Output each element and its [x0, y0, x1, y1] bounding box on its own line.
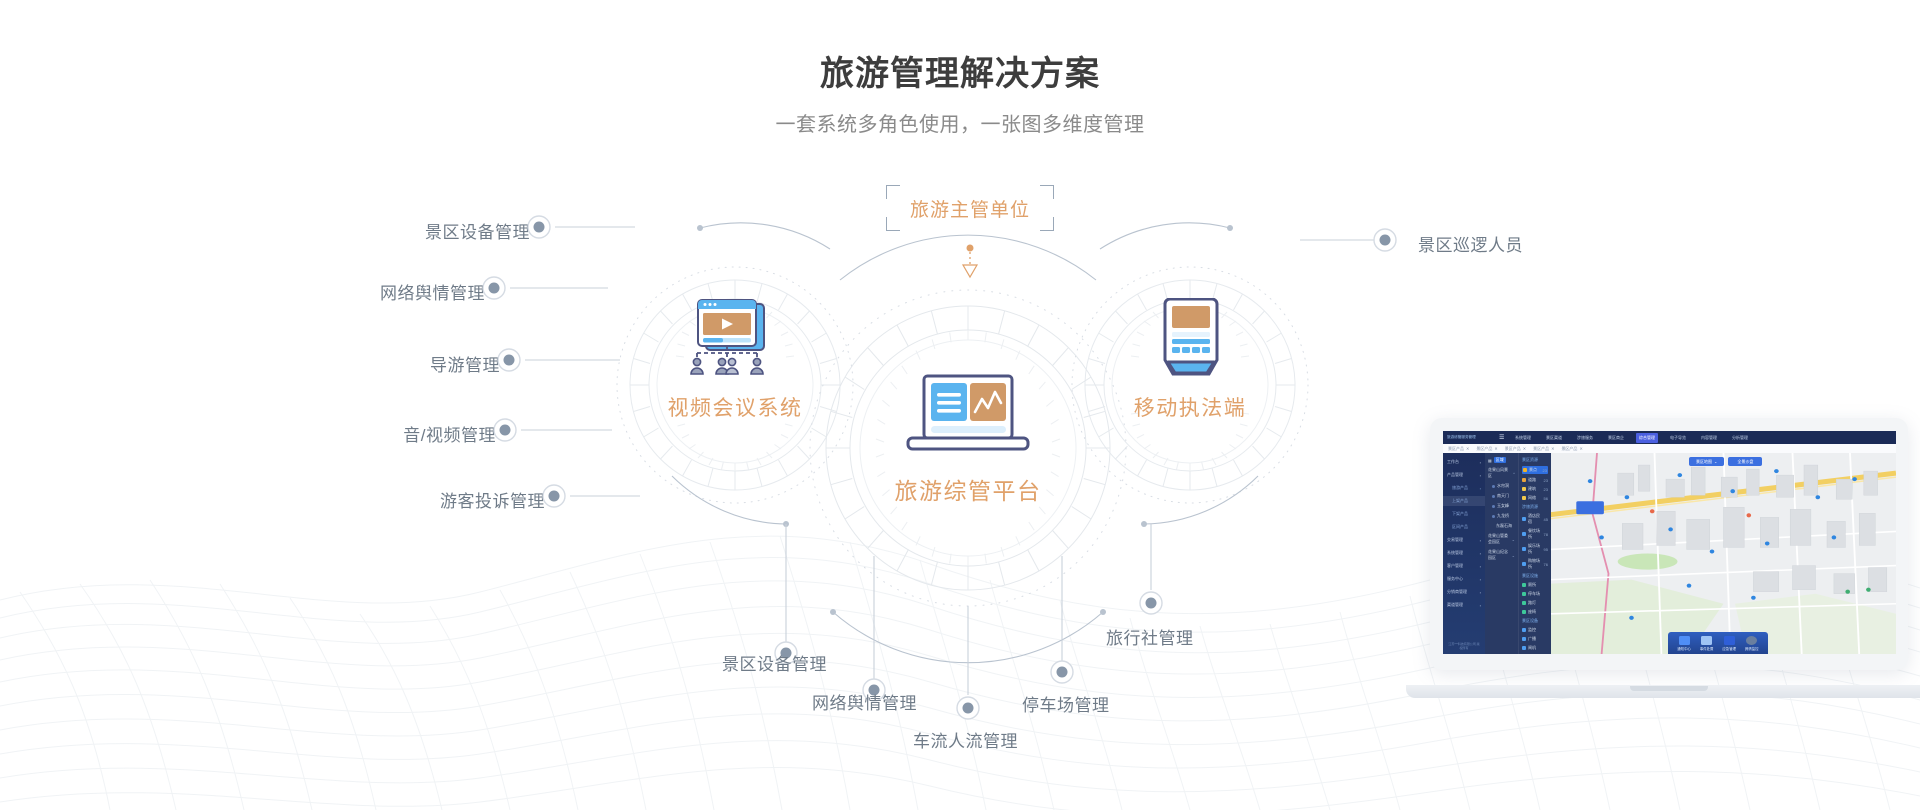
resource-row-3-0[interactable]: 监控 — [1522, 627, 1548, 633]
resource-section-title-2: 景区设施 — [1522, 573, 1548, 579]
tab-close-icon-2[interactable]: ✕ — [1523, 446, 1526, 451]
sidebar-item-10[interactable]: 分销商管理 › — [1443, 587, 1485, 597]
node-label-right-0[interactable]: 景区巡逻人员 — [1418, 231, 1523, 256]
laptop-lid: 旅游综管服务管理 ☰ 系统管理 景区渠道 涉旅服务 景区商企 综合管理 电子导览… — [1430, 418, 1908, 670]
sidebar-item-7[interactable]: 系统管理 › — [1443, 548, 1485, 558]
resource-count-0-2: 23 — [1544, 487, 1548, 492]
tab-close-icon-1[interactable]: ✕ — [1494, 446, 1497, 451]
handheld-device-icon — [1155, 298, 1227, 390]
resource-section-title-0: 景区资源 — [1522, 457, 1548, 463]
resource-count-1-1: 78 — [1544, 532, 1548, 537]
resource-count-1-2: 95 — [1544, 547, 1548, 552]
resource-label-2-2: 路灯 — [1528, 600, 1536, 606]
resource-row-1-1[interactable]: 餐饮场所 78 — [1522, 528, 1548, 540]
map-button-label-0: 景区地图 — [1696, 459, 1712, 465]
region-group-label-2: 花果山纪念园区 — [1488, 549, 1510, 561]
resource-label-1-3: 购物场所 — [1528, 558, 1542, 570]
region-bullet-0-0 — [1492, 485, 1495, 488]
top-badge[interactable]: 旅游主管单位 — [886, 185, 1054, 231]
resource-swatch-3-1 — [1522, 637, 1526, 641]
sidebar-label-0: 工作台 — [1447, 459, 1459, 465]
resource-label-3-0: 监控 — [1528, 627, 1536, 633]
laptop-screen: 旅游综管服务管理 ☰ 系统管理 景区渠道 涉旅服务 景区商企 综合管理 电子导览… — [1443, 431, 1896, 654]
nav-item-5[interactable]: 电子导览 — [1667, 433, 1689, 443]
resource-swatch-3-2 — [1522, 646, 1526, 650]
tab-label-2: 景区产品 — [1505, 446, 1521, 452]
dock-label-2: 应急管理 — [1722, 647, 1736, 651]
resource-swatch-0-1 — [1522, 478, 1526, 482]
node-label-bottom-2[interactable]: 车流人流管理 — [913, 727, 1018, 752]
resource-row-1-2[interactable]: 娱乐场所 95 — [1522, 543, 1548, 555]
resource-row-1-3[interactable]: 购物场所 76 — [1522, 558, 1548, 570]
node-label-bottom-0[interactable]: 景区设备管理 — [722, 650, 827, 675]
dashboard-footer: 江苏***科技有限公司 版权所有 — [1443, 642, 1485, 650]
resource-swatch-2-1 — [1522, 592, 1526, 596]
node-label-bottom-1[interactable]: 网络舆情管理 — [812, 689, 917, 714]
chevron-down-icon-g2[interactable]: ⌄ — [1512, 553, 1515, 558]
map-canvas — [1551, 453, 1896, 654]
sidebar-label-7: 系统管理 — [1447, 550, 1463, 556]
node-dot-left-2[interactable] — [496, 347, 522, 373]
tab-close-icon-0[interactable]: ✕ — [1466, 446, 1469, 451]
sidebar-item-0[interactable]: 工作台 › — [1443, 457, 1485, 467]
tab-label-4: 景区产品 — [1561, 446, 1577, 452]
resource-swatch-2-2 — [1522, 601, 1526, 605]
tab-label-1: 景区产品 — [1476, 446, 1492, 452]
node-dot-bottom-3[interactable] — [1049, 659, 1075, 685]
region-group-1[interactable]: 花果山管委会园区 ⌄ — [1488, 533, 1515, 545]
node-label-left-4[interactable]: 游客投诉管理 — [265, 487, 545, 512]
map-button-group: 景区地图 ⌄ 全景沙盘 — [1689, 457, 1762, 466]
region-group-label-0: 花果山风景区 — [1488, 467, 1511, 479]
node-label-left-2[interactable]: 导游管理 — [220, 351, 500, 376]
resource-label-0-3: 网络 — [1528, 495, 1536, 501]
nav-item-3[interactable]: 景区商企 — [1605, 433, 1627, 443]
chevron-up-icon-g0[interactable]: ^ — [1513, 471, 1515, 476]
nav-item-6[interactable]: 内容管理 — [1698, 433, 1720, 443]
resource-row-2-2[interactable]: 路灯 — [1522, 600, 1548, 606]
circle-caption-platform: 旅游综管平台 — [868, 472, 1068, 506]
chevron-right-icon-9: › — [1480, 577, 1481, 582]
map-button-0[interactable]: 景区地图 ⌄ — [1689, 457, 1724, 466]
dashboard-nav: 系统管理 景区渠道 涉旅服务 景区商企 综合管理 电子导览 内容管理 分析管理 — [1512, 433, 1751, 443]
dock-item-1[interactable]: 事件处置 — [1700, 636, 1714, 651]
resource-swatch-0-0 — [1523, 468, 1527, 472]
region-item-0-0[interactable]: 水帘洞 — [1488, 483, 1515, 489]
laptop-dashboard-icon — [900, 374, 1036, 460]
badge-label: 旅游主管单位 — [886, 185, 1054, 231]
node-dot-bottom-4[interactable] — [1138, 590, 1164, 616]
resource-label-1-1: 餐饮场所 — [1528, 528, 1542, 540]
region-item-label-0-4: 东磊石海 — [1496, 523, 1512, 529]
region-item-label-0-1: 南天门 — [1497, 493, 1509, 499]
map-button-label-1: 全景沙盘 — [1737, 459, 1753, 464]
sidebar-item-11[interactable]: 渠道管理 › — [1443, 600, 1485, 610]
dock-label-0: 通知中心 — [1677, 647, 1691, 651]
node-label-left-1[interactable]: 网络舆情管理 — [205, 279, 485, 304]
resource-row-1-0[interactable]: 酒店民宿 45 — [1522, 513, 1548, 525]
node-dot-left-4[interactable] — [541, 483, 567, 509]
resource-row-0-1[interactable]: 道路 23 — [1522, 477, 1548, 483]
nav-item-0[interactable]: 系统管理 — [1512, 433, 1534, 443]
region-item-0-2[interactable]: 玉女峰 — [1488, 503, 1515, 509]
resource-swatch-2-3 — [1522, 610, 1526, 614]
resource-count-1-0: 45 — [1544, 517, 1548, 522]
tab-1[interactable]: 景区产品 ✕ — [1476, 446, 1497, 452]
laptop-base — [1406, 685, 1920, 698]
sidebar-label-3: 上架产品 — [1452, 498, 1468, 504]
nav-item-1[interactable]: 景区渠道 — [1543, 433, 1565, 443]
resource-label-0-0: 景点 — [1529, 467, 1537, 473]
node-dot-bottom-2[interactable] — [955, 695, 981, 721]
emergency-icon — [1724, 636, 1735, 645]
dock-label-1: 事件处置 — [1700, 647, 1714, 651]
resource-swatch-0-3 — [1522, 496, 1526, 500]
sidebar-item-9[interactable]: 服务中心 › — [1443, 574, 1485, 584]
chevron-right-icon-11: › — [1480, 603, 1481, 608]
map-button-1[interactable]: 全景沙盘 — [1728, 457, 1762, 466]
region-group-2[interactable]: 花果山纪念园区 ⌄ — [1488, 549, 1515, 561]
region-panel: ▦ 区域 花果山风景区 ^ 水帘洞 — [1485, 453, 1518, 654]
node-dot-right-0[interactable] — [1372, 227, 1398, 253]
dock-label-3: 舆情监控 — [1745, 647, 1759, 651]
page-root: 旅游管理解决方案 一套系统多角色使用，一张图多维度管理 — [0, 0, 1920, 810]
resource-section-title-3: 景区设备 — [1522, 618, 1548, 624]
sidebar-item-6[interactable]: 交易管理 › — [1443, 535, 1485, 545]
dashboard-map[interactable]: 景区地图 ⌄ 全景沙盘 通 — [1551, 453, 1896, 654]
resource-swatch-0-2 — [1522, 487, 1526, 491]
resource-label-2-1: 停车场 — [1528, 591, 1540, 597]
dashboard-app: 旅游综管服务管理 ☰ 系统管理 景区渠道 涉旅服务 景区商企 综合管理 电子导览… — [1443, 431, 1896, 654]
resource-count-0-3: 56 — [1544, 496, 1548, 501]
badge-connector — [963, 245, 977, 278]
resource-row-0-2[interactable]: 建筑 23 — [1522, 486, 1548, 492]
chevron-right-icon-10: › — [1480, 590, 1481, 595]
chevron-down-icon-map0: ⌄ — [1714, 459, 1717, 464]
chevron-right-icon-6: › — [1480, 538, 1481, 543]
resource-label-0-1: 道路 — [1528, 477, 1536, 483]
sidebar-label-10: 分销商管理 — [1447, 589, 1467, 595]
resource-swatch-2-0 — [1522, 583, 1526, 587]
left-connector-lines — [510, 227, 640, 496]
resource-count-0-1: 23 — [1544, 478, 1548, 483]
node-dot-left-1[interactable] — [481, 275, 507, 301]
circle-caption-mobile: 移动执法端 — [1090, 392, 1290, 422]
dashboard-layer-panel: ▦ 区域 花果山风景区 ^ 水帘洞 — [1485, 453, 1551, 654]
region-item-0-1[interactable]: 南天门 — [1488, 493, 1515, 499]
dashboard-tabstrip: 景区产品 ✕ 景区产品 ✕ 景区产品 ✕ 景区产品 — [1443, 444, 1896, 453]
resource-label-3-2: 闸机 — [1528, 645, 1536, 651]
region-item-label-0-3: 九龙桥 — [1497, 513, 1509, 519]
dock-item-0[interactable]: 通知中心 — [1677, 636, 1691, 651]
resource-swatch-1-3 — [1522, 562, 1526, 566]
node-dot-left-0[interactable] — [526, 214, 552, 240]
dock-item-3[interactable]: 舆情监控 — [1745, 636, 1759, 651]
region-bullet-0-1 — [1492, 495, 1495, 498]
resource-row-2-1[interactable]: 停车场 — [1522, 591, 1548, 597]
region-item-label-0-0: 水帘洞 — [1497, 483, 1509, 489]
resource-panel: 景区资源 景点 23 道路 23 — [1518, 453, 1551, 654]
map-dock: 通知中心 事件处置 应急管理 — [1668, 632, 1767, 654]
nav-item-4[interactable]: 综合管理 — [1636, 433, 1658, 443]
chevron-down-icon-1: › — [1480, 473, 1481, 478]
sidebar-label-9: 服务中心 — [1447, 576, 1463, 582]
sidebar-label-11: 渠道管理 — [1447, 602, 1463, 608]
tab-close-icon-3[interactable]: ✕ — [1551, 446, 1554, 451]
tab-0[interactable]: 景区产品 ✕ — [1448, 446, 1469, 452]
region-item-0-3[interactable]: 九龙桥 — [1488, 513, 1515, 519]
grid-icon: ▦ — [1488, 458, 1492, 463]
tab-close-icon-4[interactable]: ✕ — [1579, 446, 1582, 451]
dashboard-body: 工作台 › 产品管理 › 旅游产品 › 上架产品 下架产 — [1443, 453, 1896, 654]
resource-row-0-0[interactable]: 景点 23 — [1522, 466, 1548, 474]
hamburger-icon[interactable]: ☰ — [1499, 434, 1507, 441]
resource-label-1-0: 酒店民宿 — [1528, 513, 1542, 525]
laptop-notch — [1630, 686, 1708, 691]
sidebar-item-2[interactable]: 旅游产品 › — [1443, 483, 1485, 493]
resource-label-3-1: 广播 — [1528, 636, 1536, 642]
sidebar-label-2: 旅游产品 — [1452, 485, 1468, 491]
resource-row-3-2[interactable]: 闸机 — [1522, 645, 1548, 651]
sidebar-item-1[interactable]: 产品管理 › — [1443, 470, 1485, 480]
tab-label-0: 景区产品 — [1448, 446, 1464, 452]
region-title-label: 区域 — [1494, 457, 1506, 463]
sidebar-label-1: 产品管理 — [1447, 472, 1463, 478]
dock-item-2[interactable]: 应急管理 — [1722, 636, 1736, 651]
chevron-right-icon-0: › — [1480, 460, 1481, 465]
notification-icon — [1679, 636, 1690, 645]
resource-row-3-1[interactable]: 广播 — [1522, 636, 1548, 642]
tab-4[interactable]: 景区产品 ✕ — [1561, 446, 1582, 452]
resource-label-1-2: 娱乐场所 — [1528, 543, 1542, 555]
resource-row-2-0[interactable]: 厕所 — [1522, 582, 1548, 588]
resource-swatch-1-0 — [1522, 517, 1526, 521]
node-label-bottom-3[interactable]: 停车场管理 — [1022, 691, 1110, 716]
region-bullet-0-3 — [1492, 515, 1495, 518]
resource-swatch-1-1 — [1522, 532, 1526, 536]
sidebar-label-6: 交易管理 — [1447, 537, 1463, 543]
sidebar-label-5: 区间产品 — [1452, 524, 1468, 530]
node-label-left-0[interactable]: 景区设备管理 — [250, 218, 530, 243]
node-label-left-3[interactable]: 音/视频管理 — [216, 421, 496, 446]
tab-label-3: 景区产品 — [1533, 446, 1549, 452]
nav-item-7[interactable]: 分析管理 — [1729, 433, 1751, 443]
resource-section-title-1: 涉旅资源 — [1522, 504, 1548, 510]
sidebar-item-5[interactable]: 区间产品 — [1443, 522, 1485, 532]
node-dot-left-3[interactable] — [492, 417, 518, 443]
region-panel-title: ▦ 区域 — [1488, 457, 1515, 463]
resource-label-2-0: 厕所 — [1528, 582, 1536, 588]
region-item-label-0-2: 玉女峰 — [1497, 503, 1509, 509]
dashboard-topbar: 旅游综管服务管理 ☰ 系统管理 景区渠道 涉旅服务 景区商企 综合管理 电子导览… — [1443, 431, 1896, 444]
bottom-connector-lines — [786, 524, 1151, 695]
dashboard-sidebar: 工作台 › 产品管理 › 旅游产品 › 上架产品 下架产 — [1443, 453, 1485, 654]
sidebar-label-8: 客户管理 — [1447, 563, 1463, 569]
tab-2[interactable]: 景区产品 ✕ — [1505, 446, 1526, 452]
resource-swatch-1-2 — [1522, 547, 1526, 551]
chevron-right-icon-7: › — [1480, 551, 1481, 556]
chevron-right-icon-8: › — [1480, 564, 1481, 569]
sidebar-item-4[interactable]: 下架产品 — [1443, 509, 1485, 519]
resource-count-1-3: 76 — [1544, 562, 1548, 567]
sidebar-item-8[interactable]: 客户管理 › — [1443, 561, 1485, 571]
dashboard-logo[interactable]: 旅游综管服务管理 — [1447, 435, 1499, 440]
resource-row-2-3[interactable]: 座椅 — [1522, 609, 1548, 615]
node-label-bottom-4[interactable]: 旅行社管理 — [1106, 624, 1194, 649]
resource-swatch-3-0 — [1522, 628, 1526, 632]
resource-count-0-0: 23 — [1543, 468, 1547, 473]
tab-3[interactable]: 景区产品 ✕ — [1533, 446, 1554, 452]
circle-caption-video: 视频会议系统 — [635, 392, 835, 422]
resource-label-2-3: 座椅 — [1528, 609, 1536, 615]
region-group-label-1: 花果山管委会园区 — [1488, 533, 1510, 545]
region-bullet-0-2 — [1492, 505, 1495, 508]
chevron-down-icon-2: › — [1480, 486, 1481, 491]
region-item-0-4[interactable]: 东磊石海 — [1488, 523, 1515, 529]
monitor-icon — [1746, 636, 1757, 645]
sidebar-label-4: 下架产品 — [1452, 511, 1468, 517]
sidebar-item-3[interactable]: 上架产品 — [1443, 496, 1485, 506]
region-group-0[interactable]: 花果山风景区 ^ — [1488, 467, 1515, 479]
video-conference-icon — [680, 298, 790, 380]
nav-item-2[interactable]: 涉旅服务 — [1574, 433, 1596, 443]
resource-label-0-2: 建筑 — [1528, 486, 1536, 492]
event-icon — [1701, 636, 1712, 645]
chevron-down-icon-g1[interactable]: ⌄ — [1512, 537, 1515, 542]
resource-row-0-3[interactable]: 网络 56 — [1522, 495, 1548, 501]
laptop-mockup: 旅游综管服务管理 ☰ 系统管理 景区渠道 涉旅服务 景区商企 综合管理 电子导览… — [1430, 418, 1908, 698]
